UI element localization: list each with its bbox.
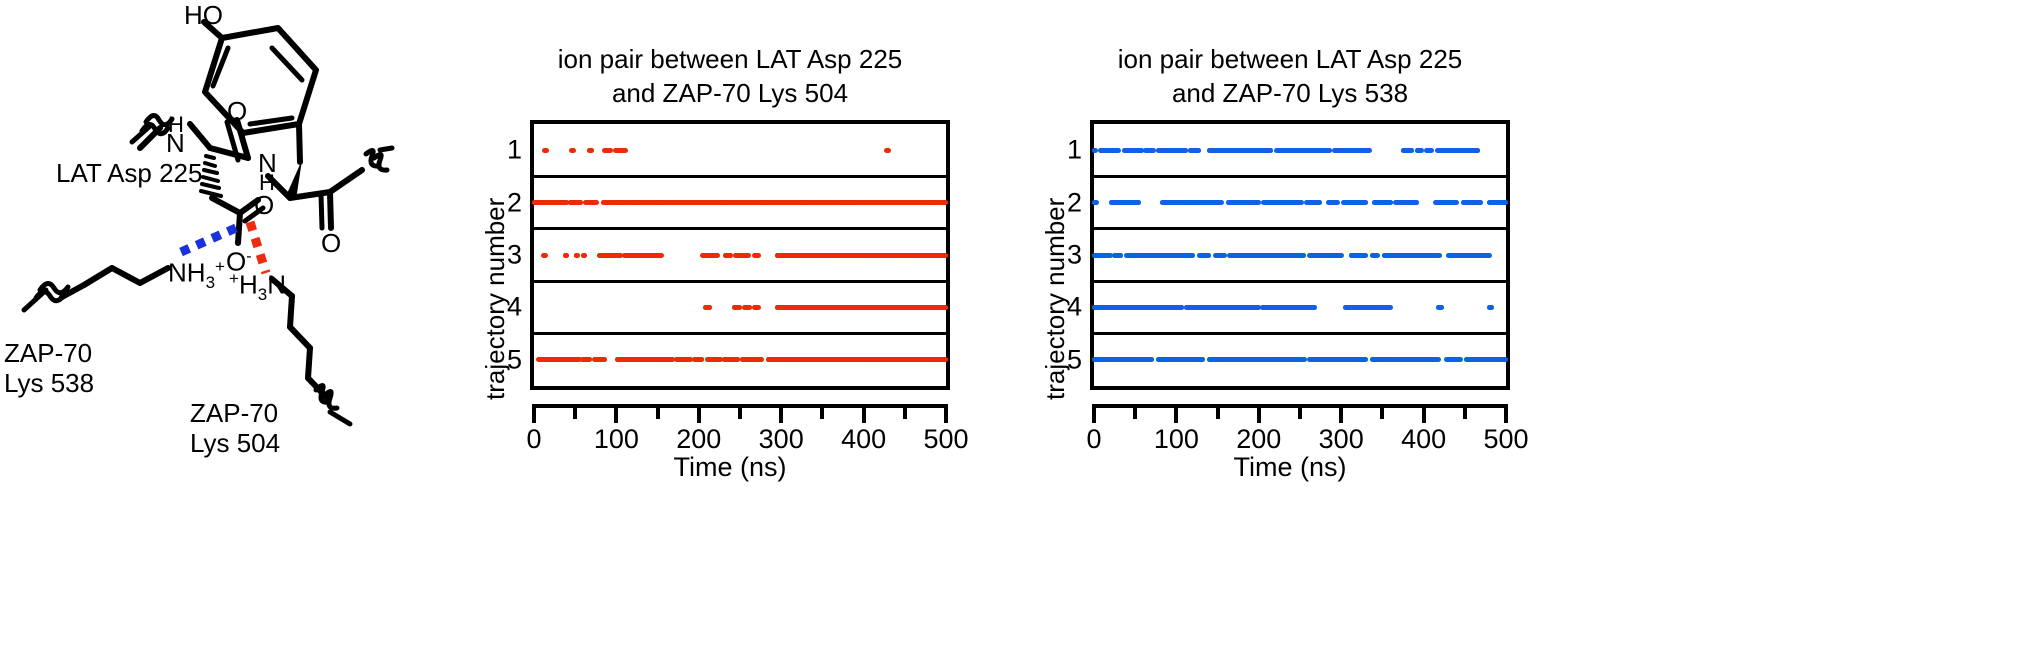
data-point [1151,148,1156,153]
nh3-right-n: N [267,270,286,300]
label-zap70-lys538-line2: Lys 538 [4,368,94,398]
data-point [575,253,580,258]
x-tick-label-400: 400 [1379,424,1469,455]
x-tick-label-200: 200 [1214,424,1304,455]
x-tick-label-200: 200 [654,424,744,455]
x-tick-label-100: 100 [571,424,661,455]
x-axis-label-lys538: Time (ns) [1030,452,1550,483]
atom-label-nh3-lys504: +H3N [229,264,286,310]
data-point [943,253,948,258]
y-tick-label-5: 5 [1042,344,1082,375]
x-tick-label-300: 300 [736,424,826,455]
nh3-left-subscript: 3 [206,273,215,292]
data-point [1437,253,1442,258]
x-minor-tick-50 [573,408,577,419]
x-major-tick-400 [862,408,866,423]
y-tick-label-1: 1 [1042,135,1082,166]
data-point [756,305,761,310]
row-divider [1094,332,1506,335]
nh3-left-letters: NH [168,258,206,288]
nh3-right-charge: + [229,269,239,288]
plot-title-line1: ion pair between LAT Asp 225 [1030,42,1550,76]
data-point [623,148,628,153]
x-minor-tick-150 [1216,408,1220,419]
data-point [1219,200,1224,205]
atom-label-left-amide-n: N [166,128,185,158]
data-point [747,305,752,310]
plot-title-line2: and ZAP-70 Lys 504 [470,76,990,110]
x-minor-tick-50 [1133,408,1137,419]
atom-label-nh3-lys538: NH3+ [168,252,225,298]
data-point [571,148,576,153]
data-point [589,148,594,153]
data-point [1409,148,1414,153]
row-divider [1094,175,1506,178]
data-point [564,253,569,258]
atom-label-o-amide: O [227,96,247,126]
data-point [659,253,664,258]
x-tick-label-0: 0 [1049,424,1139,455]
y-tick-label-2: 2 [1042,187,1082,218]
data-point [746,253,751,258]
data-point [1094,200,1099,205]
x-major-tick-100 [614,408,618,423]
x-major-tick-200 [697,408,701,423]
y-tick-label-3: 3 [1042,240,1082,271]
data-point [582,253,587,258]
data-point [1116,148,1121,153]
x-major-tick-0 [1092,408,1096,423]
plot-panel-lys504: ion pair between LAT Asp 225 and ZAP-70 … [470,0,990,655]
data-point [1363,253,1368,258]
x-tick-label-500: 500 [901,424,991,455]
data-point [1367,148,1372,153]
data-point [1301,253,1306,258]
label-lat-asp-225: LAT Asp 225 [56,158,202,188]
data-point [715,253,720,258]
x-minor-tick-350 [820,408,824,419]
nh3-left-charge: + [215,257,225,276]
x-tick-label-500: 500 [1461,424,1551,455]
plot-panel-lys538: ion pair between LAT Asp 225 and ZAP-70 … [1030,0,1550,655]
plot-title-lys538: ion pair between LAT Asp 225 and ZAP-70 … [1030,42,1550,110]
plot-title-line1: ion pair between LAT Asp 225 [470,42,990,76]
x-minor-tick-250 [738,408,742,419]
x-major-tick-0 [532,408,536,423]
data-point [1419,148,1424,153]
atom-label-ho: HO [184,0,223,30]
row-divider [1094,280,1506,283]
row-divider [534,280,946,283]
x-major-tick-500 [944,408,948,423]
x-major-tick-200 [1257,408,1261,423]
x-minor-tick-150 [656,408,660,419]
x-minor-tick-250 [1298,408,1302,419]
stereo-hash-asp [201,156,221,196]
lys538-chain [62,268,168,306]
y-tick-label-3: 3 [482,240,522,271]
y-tick-label-4: 4 [1042,292,1082,323]
x-tick-label-0: 0 [489,424,579,455]
x-major-tick-500 [1504,408,1508,423]
data-point [759,357,764,362]
data-point [1196,148,1201,153]
data-point [728,253,733,258]
x-tick-label-400: 400 [819,424,909,455]
data-point [1375,253,1380,258]
y-tick-label-2: 2 [482,187,522,218]
x-minor-tick-350 [1380,408,1384,419]
y-tick-label-1: 1 [482,135,522,166]
charge-minus: - [246,248,251,265]
row-divider [534,175,946,178]
x-major-tick-300 [779,408,783,423]
x-major-tick-300 [1339,408,1343,423]
x-major-tick-400 [1422,408,1426,423]
row-divider [534,227,946,230]
row-divider [534,332,946,335]
x-axis-label-lys504: Time (ns) [470,452,990,483]
x-minor-tick-450 [903,408,907,419]
x-tick-label-100: 100 [1131,424,1221,455]
x-minor-tick-450 [1463,408,1467,419]
atom-label-o-carboxyl-double: O [254,190,274,220]
data-point [1487,253,1492,258]
label-zap70-lys538-line1: ZAP-70 [4,338,94,368]
data-point [1429,148,1434,153]
data-point [1222,253,1227,258]
chemical-structure-diagram: HO O H N N H O O O- NH3+ +H3N LAT Asp 22… [0,0,500,655]
y-tick-label-5: 5 [482,344,522,375]
data-point [608,148,613,153]
x-tick-label-300: 300 [1296,424,1386,455]
plot-title-line2: and ZAP-70 Lys 538 [1030,76,1550,110]
data-point [1339,253,1344,258]
label-zap70-lys504-line2: Lys 504 [190,428,280,458]
data-point [1454,200,1459,205]
data-point [1335,200,1340,205]
data-point [594,200,599,205]
row-divider [1094,227,1506,230]
data-point [544,148,549,153]
atom-label-o-right-carbonyl: O [321,228,341,258]
phenol-ring [205,28,316,133]
data-point [707,305,712,310]
data-point [543,253,548,258]
structure-svg [0,0,500,655]
data-point [756,253,761,258]
nh3-right-subscript: 3 [258,285,267,304]
data-point [886,148,891,153]
label-zap70-lys504-line1: ZAP-70 [190,398,280,428]
label-zap70-lys504: ZAP-70 Lys 504 [190,398,280,458]
nh3-right-h: H [239,270,258,300]
x-major-tick-100 [1174,408,1178,423]
plot-title-lys504: ion pair between LAT Asp 225 and ZAP-70 … [470,42,990,110]
data-point [1190,253,1195,258]
label-zap70-lys538: ZAP-70 Lys 538 [4,338,94,398]
y-tick-label-4: 4 [482,292,522,323]
